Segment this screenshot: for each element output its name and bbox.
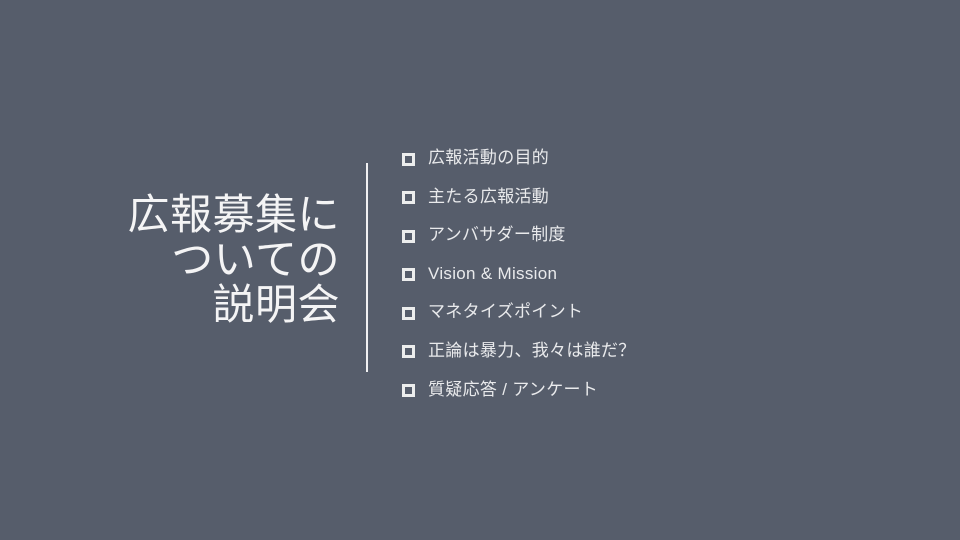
list-item: アンバサダー制度 (402, 224, 922, 246)
square-outline-bullet-icon (402, 153, 415, 166)
square-outline-bullet-icon (402, 345, 415, 358)
list-item: マネタイズポイント (402, 301, 922, 323)
list-item-label: 広報活動の目的 (428, 147, 549, 169)
list-item: 質疑応答 / アンケート (402, 379, 922, 401)
square-outline-bullet-icon (402, 384, 415, 397)
list-item: 広報活動の目的 (402, 147, 922, 169)
slide-title: 広報募集に ついての 説明会 (40, 192, 340, 327)
list-item-label: 質疑応答 / アンケート (428, 379, 598, 401)
square-outline-bullet-icon (402, 230, 415, 243)
square-outline-bullet-icon (402, 268, 415, 281)
vertical-divider (366, 163, 368, 372)
list-item-label: 主たる広報活動 (428, 186, 549, 208)
list-item: 正論は暴力、我々は誰だ？ (402, 340, 922, 362)
agenda-list: 広報活動の目的 主たる広報活動 アンバサダー制度 Vision & Missio… (402, 147, 922, 417)
square-outline-bullet-icon (402, 307, 415, 320)
square-outline-bullet-icon (402, 191, 415, 204)
list-item: Vision & Mission (402, 263, 922, 285)
list-item-label: 正論は暴力、我々は誰だ？ (428, 340, 636, 362)
list-item-label: Vision & Mission (428, 263, 557, 285)
title-line-3: 説明会 (40, 282, 340, 327)
title-line-2: ついての (40, 237, 340, 282)
list-item-label: マネタイズポイント (428, 301, 583, 323)
list-item: 主たる広報活動 (402, 186, 922, 208)
list-item-label: アンバサダー制度 (428, 224, 566, 246)
title-line-1: 広報募集に (40, 192, 340, 237)
presentation-slide: 広報募集に ついての 説明会 広報活動の目的 主たる広報活動 アンバサダー制度 … (0, 0, 960, 540)
